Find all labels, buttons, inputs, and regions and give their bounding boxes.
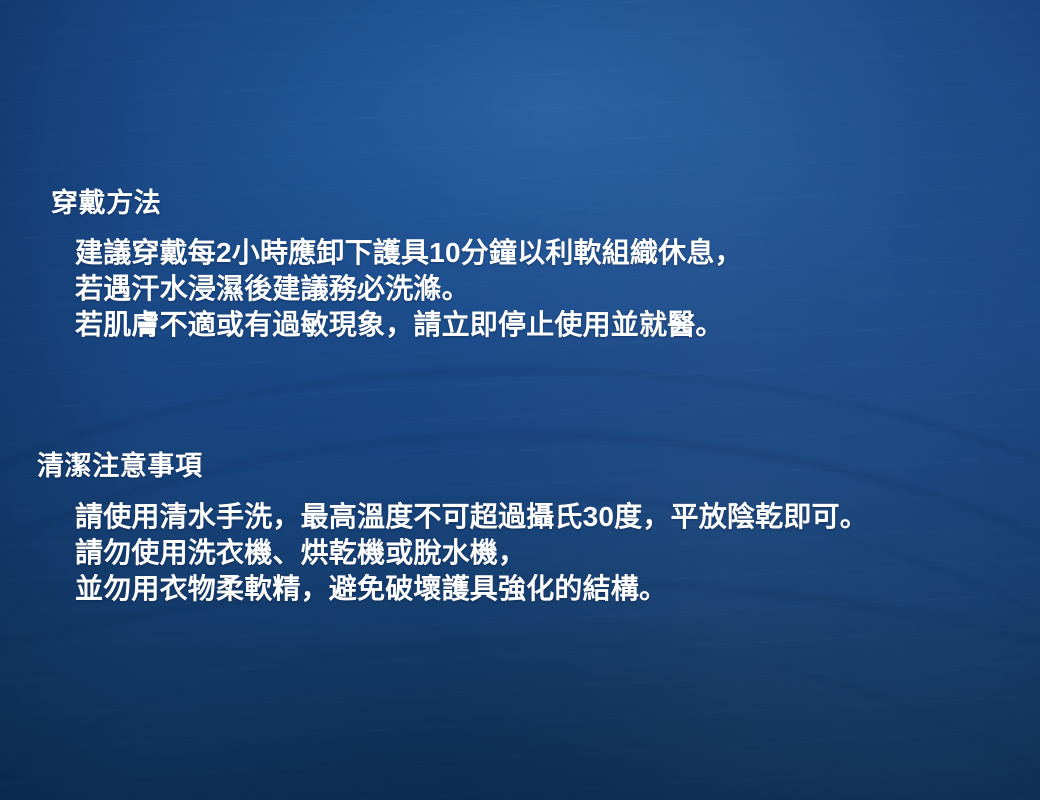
section-heading-wearing-method: 穿戴方法 [0,186,1040,220]
body-line: 並勿用衣物柔軟精，避免破壞護具強化的結構。 [75,571,1040,607]
slide-root: 穿戴方法 建議穿戴每2小時應卸下護具10分鐘以利軟組織休息， 若遇汗水浸濕後建議… [0,0,1040,800]
body-line: 請使用清水手洗，最高溫度不可超過攝氏30度，平放陰乾即可。 [75,499,1040,535]
slide-content: 穿戴方法 建議穿戴每2小時應卸下護具10分鐘以利軟組織休息， 若遇汗水浸濕後建議… [0,0,1040,800]
body-line: 若遇汗水浸濕後建議務必洗滌。 [75,271,1040,307]
section-heading-cleaning-precautions: 清潔注意事項 [0,449,1040,483]
section-wearing-method: 穿戴方法 建議穿戴每2小時應卸下護具10分鐘以利軟組織休息， 若遇汗水浸濕後建議… [0,186,1040,343]
section-body-cleaning-precautions: 請使用清水手洗，最高溫度不可超過攝氏30度，平放陰乾即可。 請勿使用洗衣機、烘乾… [0,499,1040,607]
body-line: 請勿使用洗衣機、烘乾機或脫水機， [75,535,1040,571]
body-line: 建議穿戴每2小時應卸下護具10分鐘以利軟組織休息， [75,235,1040,271]
section-cleaning-precautions: 清潔注意事項 請使用清水手洗，最高溫度不可超過攝氏30度，平放陰乾即可。 請勿使… [0,449,1040,607]
section-body-wearing-method: 建議穿戴每2小時應卸下護具10分鐘以利軟組織休息， 若遇汗水浸濕後建議務必洗滌。… [0,235,1040,343]
body-line: 若肌膚不適或有過敏現象，請立即停止使用並就醫。 [75,307,1040,343]
